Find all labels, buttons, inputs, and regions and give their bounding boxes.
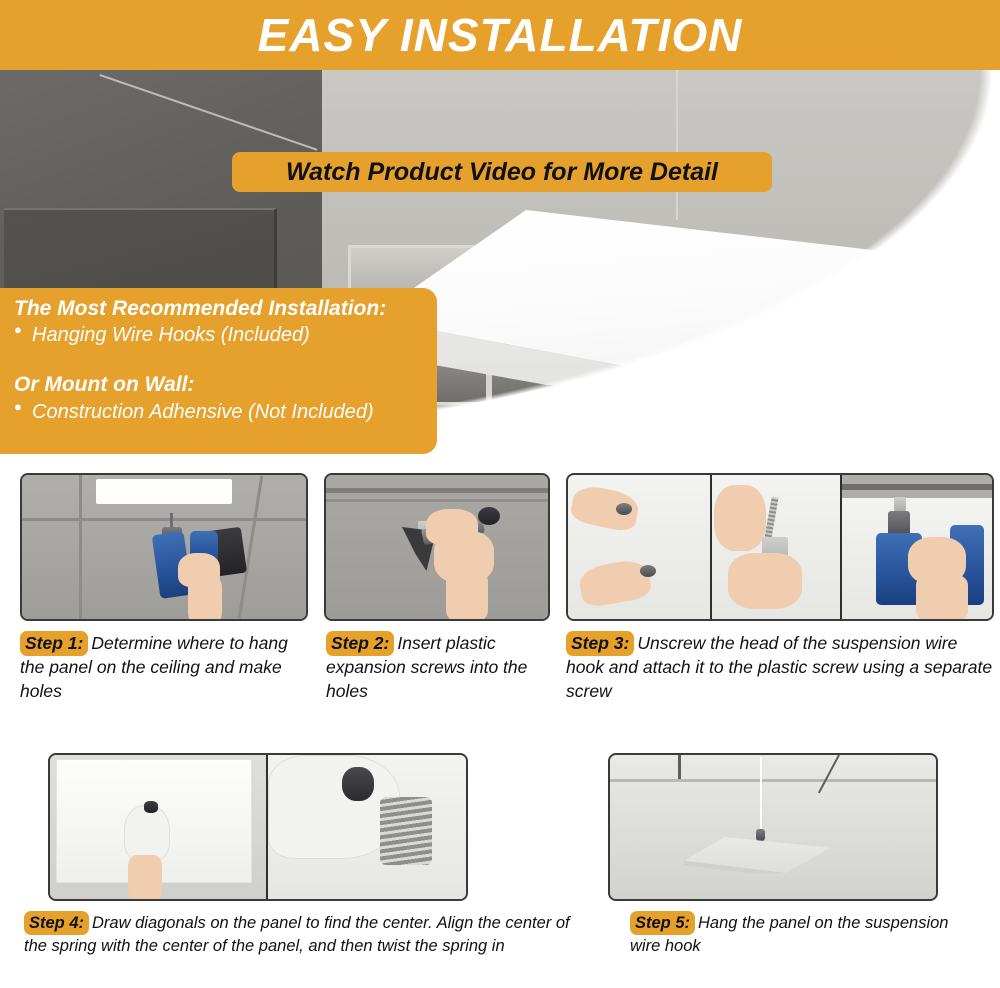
step4-panel-b xyxy=(266,755,466,899)
page-title: EASY INSTALLATION xyxy=(258,12,743,58)
step4b-spring xyxy=(380,797,432,865)
step5-wire-hook xyxy=(756,829,765,841)
step-4-photo xyxy=(48,753,468,901)
header-band: EASY INSTALLATION xyxy=(0,0,1000,70)
reco-secondary-heading: Or Mount on Wall: xyxy=(14,372,421,398)
hero-shelf xyxy=(930,220,1000,238)
step3-panel-c xyxy=(840,475,992,619)
step5-room xyxy=(610,755,936,899)
step3c-rail xyxy=(842,484,992,490)
step4a-gloved-hand xyxy=(124,805,170,861)
step-1-badge: Step 1: xyxy=(20,631,88,656)
step-1-caption: Step 1:Determine where to hang the panel… xyxy=(20,631,310,703)
step3-panel-b xyxy=(710,475,840,619)
step-3-photo xyxy=(566,473,994,621)
step4-panel-a xyxy=(50,755,266,899)
step2-hammer-head xyxy=(478,507,500,525)
hero-acoustic-panel xyxy=(370,210,890,385)
reco-secondary-item: Construction Adhensive (Not Included) xyxy=(14,399,421,425)
hero-panel-wire xyxy=(676,70,678,220)
step3-panel-a xyxy=(568,475,710,619)
watch-video-label: Watch Product Video for More Detail xyxy=(286,158,718,187)
step-3-caption: Step 3:Unscrew the head of the suspensio… xyxy=(566,631,998,703)
step3a-hook-part xyxy=(616,503,632,515)
watch-video-badge[interactable]: Watch Product Video for More Detail xyxy=(232,152,772,192)
step1-forearm xyxy=(188,575,222,621)
step1-rail-vertical xyxy=(79,475,82,619)
step-4-badge: Step 4: xyxy=(24,911,89,935)
step3b-hand-top xyxy=(714,485,766,551)
step2-forearm xyxy=(446,571,488,621)
step5-suspension-wire xyxy=(760,757,762,833)
step5-ceiling-line xyxy=(610,779,936,782)
step3b-hand-bottom xyxy=(728,553,802,609)
step-1-photo xyxy=(20,473,308,621)
step-4-caption: Step 4:Draw diagonals on the panel to fi… xyxy=(24,911,584,958)
step-5-photo xyxy=(608,753,938,901)
recommended-installation-callout: The Most Recommended Installation: Hangi… xyxy=(0,288,437,454)
step-3-badge: Step 3: xyxy=(566,631,634,656)
step-5-caption: Step 5:Hang the panel on the suspension … xyxy=(630,911,960,958)
step2-rail xyxy=(326,488,548,493)
step1-skylight xyxy=(96,479,232,503)
step4a-marker-pen xyxy=(144,801,158,813)
step1-drill-bit xyxy=(170,513,173,527)
step4b-thumb-shadow xyxy=(342,767,374,801)
step-5-badge: Step 5: xyxy=(630,911,695,935)
step2-rail xyxy=(326,499,548,502)
step5-ceiling-post xyxy=(678,755,681,779)
reco-spacer xyxy=(14,348,421,372)
step4a-forearm xyxy=(128,855,162,899)
step-2-badge: Step 2: xyxy=(326,631,394,656)
step3a-hook-part xyxy=(640,565,656,577)
reco-primary-item: Hanging Wire Hooks (Included) xyxy=(14,322,421,348)
step-2-photo xyxy=(324,473,550,621)
step-4-text: Draw diagonals on the panel to find the … xyxy=(24,914,570,955)
step1-rail-horizontal xyxy=(22,518,306,521)
step-2-caption: Step 2:Insert plastic expansion screws i… xyxy=(326,631,556,703)
reco-primary-heading: The Most Recommended Installation: xyxy=(14,296,421,322)
step3c-forearm xyxy=(916,575,968,619)
